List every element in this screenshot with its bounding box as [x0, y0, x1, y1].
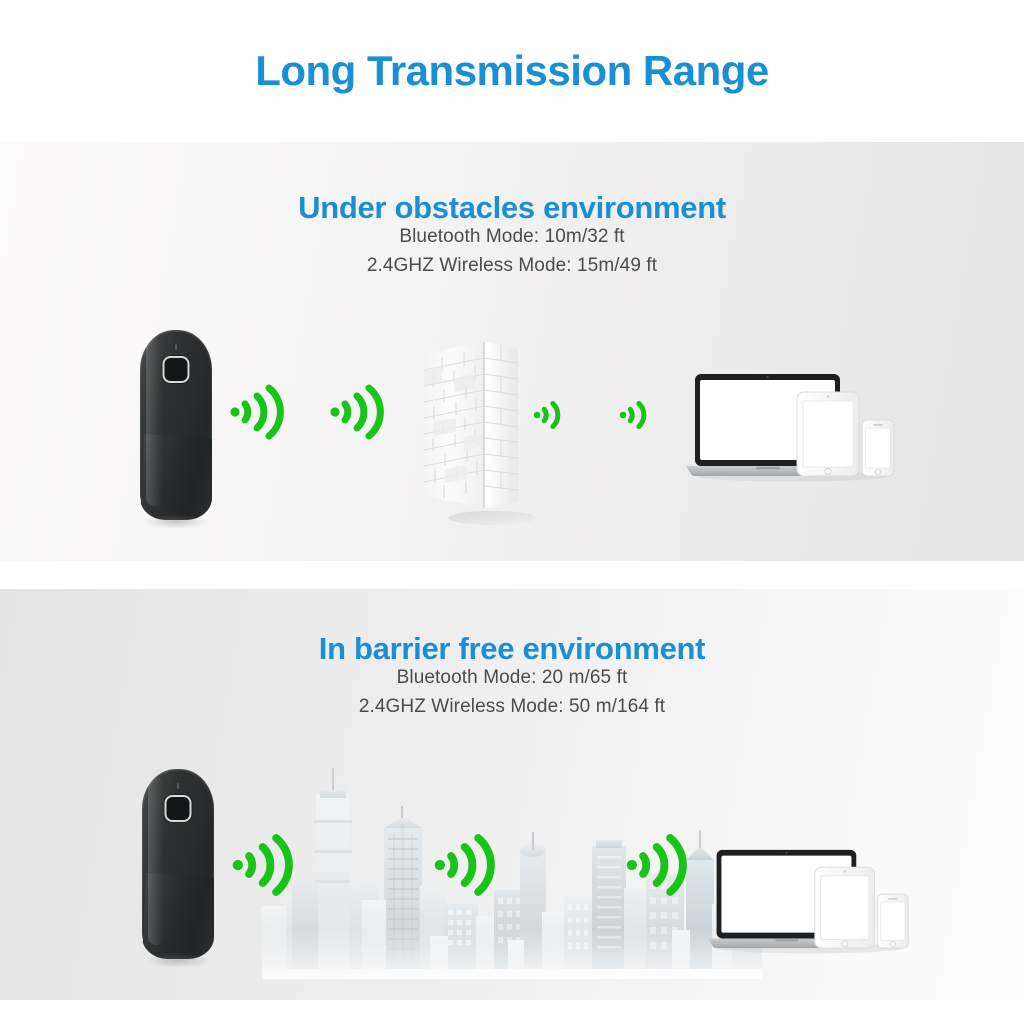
signal-icon [624, 829, 696, 901]
scanner-highlight [148, 777, 164, 945]
receiving-devices-group [684, 364, 902, 484]
scanner-highlight [146, 338, 162, 506]
panel-2-title: In barrier free environment [0, 631, 1024, 667]
panel-barrier-free: In barrier free environment Bluetooth Mo… [0, 589, 1024, 1000]
scanner-led-indicator [177, 783, 179, 789]
panel-2-text-block: In barrier free environment Bluetooth Mo… [0, 631, 1024, 718]
page-footer-space [0, 1000, 1024, 1024]
brick-wall-obstacle [418, 332, 540, 528]
smartphone-device [862, 420, 894, 476]
scanner-trigger-button [163, 356, 190, 383]
receiving-devices-group [706, 839, 916, 957]
signal-icon [532, 392, 578, 438]
scanner-led-indicator [175, 344, 177, 350]
barcode-scanner-device [142, 769, 214, 959]
panel-1-title: Under obstacles environment [0, 190, 1024, 226]
panel-1-text-block: Under obstacles environment Bluetooth Mo… [0, 190, 1024, 277]
scanner-trigger-button [165, 795, 192, 822]
signal-icon [230, 829, 302, 901]
page-title: Long Transmission Range [255, 47, 769, 95]
tablet-device [815, 867, 875, 948]
panel-1-spec-bluetooth: Bluetooth Mode: 10m/32 ft [0, 226, 1024, 248]
tablet-device [797, 392, 859, 476]
signal-icon [432, 829, 504, 901]
panel-2-spec-wireless: 2.4GHZ Wireless Mode: 50 m/164 ft [0, 696, 1024, 718]
signal-icon [228, 380, 292, 444]
page-header: Long Transmission Range [0, 0, 1024, 142]
barcode-scanner-device [140, 330, 212, 520]
signal-icon [328, 380, 392, 444]
panel-divider [0, 561, 1024, 589]
smartphone-device [877, 894, 908, 948]
scanner-drop-shadow [142, 514, 210, 529]
panel-under-obstacles: Under obstacles environment Bluetooth Mo… [0, 142, 1024, 561]
signal-icon [618, 392, 664, 438]
panel-1-spec-wireless: 2.4GHZ Wireless Mode: 15m/49 ft [0, 255, 1024, 277]
scanner-drop-shadow [144, 953, 212, 968]
panel-2-spec-bluetooth: Bluetooth Mode: 20 m/65 ft [0, 667, 1024, 689]
